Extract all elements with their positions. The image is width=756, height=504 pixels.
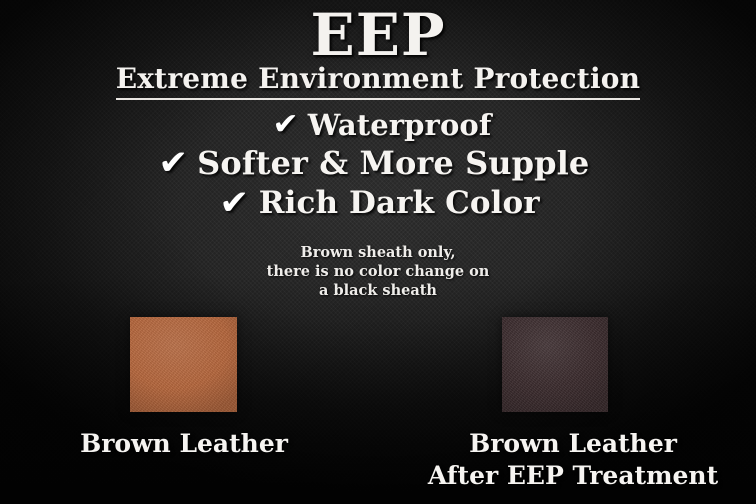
disclaimer-line-2: there is no color change on bbox=[0, 262, 756, 281]
poster-content: EEP Extreme Environment Protection ✔ Wat… bbox=[0, 0, 756, 504]
feature-list: ✔ Waterproof ✔ Softer & More Supple ✔ Ri… bbox=[0, 110, 756, 220]
eep-promo-poster: EEP Extreme Environment Protection ✔ Wat… bbox=[0, 0, 756, 504]
feature-label: Rich Dark Color bbox=[259, 188, 540, 219]
page-title: EEP bbox=[0, 6, 756, 65]
feature-item-waterproof: ✔ Waterproof bbox=[8, 110, 756, 140]
caption-left: Brown Leather bbox=[0, 428, 368, 460]
swatch-sheen bbox=[130, 317, 237, 412]
caption-right-line-2: After EEP Treatment bbox=[390, 460, 756, 492]
feature-label: Waterproof bbox=[308, 111, 492, 140]
caption-right: Brown Leather After EEP Treatment bbox=[390, 428, 756, 492]
disclaimer-text: Brown sheath only, there is no color cha… bbox=[0, 243, 756, 300]
caption-right-line-1: Brown Leather bbox=[390, 428, 756, 460]
page-subtitle: Extreme Environment Protection bbox=[116, 63, 640, 99]
disclaimer-line-3: a black sheath bbox=[0, 281, 756, 300]
swatch-brown-leather-untreated bbox=[130, 317, 237, 412]
feature-item-rich-dark-color: ✔ Rich Dark Color bbox=[4, 186, 756, 220]
swatch-sheen bbox=[502, 317, 608, 412]
headline-block: EEP Extreme Environment Protection bbox=[0, 6, 756, 100]
checkmark-icon: ✔ bbox=[220, 186, 250, 220]
swatch-brown-leather-eep-treated bbox=[502, 317, 608, 412]
caption-left-line-1: Brown Leather bbox=[0, 428, 368, 460]
feature-item-softer-more-supple: ✔ Softer & More Supple bbox=[0, 146, 756, 180]
disclaimer-line-1: Brown sheath only, bbox=[0, 243, 756, 262]
checkmark-icon: ✔ bbox=[158, 146, 188, 180]
feature-label: Softer & More Supple bbox=[197, 147, 589, 179]
checkmark-icon: ✔ bbox=[272, 110, 298, 140]
